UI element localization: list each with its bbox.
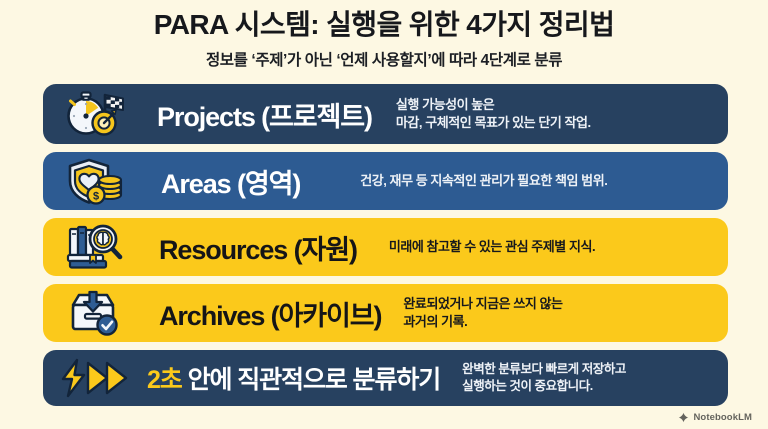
row-resources[interactable]: Resources (자원) 미래에 참고할 수 있는 관심 주제별 지식. [43,218,728,276]
row-projects[interactable]: Projects (프로젝트) 실행 가능성이 높은 마감, 구체적인 목표가 … [43,84,728,144]
infographic-poster: PARA 시스템: 실행을 위한 4가지 정리법 정보를 ‘주제’가 아닌 ‘언… [0,0,768,429]
watermark: NotebookLM [678,412,752,423]
row-label-resources: Resources (자원) [159,228,357,267]
row-archives[interactable]: Archives (아카이브) 완료되었거나 지금은 쓰지 않는 과거의 기록. [43,284,728,342]
row-description-archives: 완료되었거나 지금은 쓰지 않는 과거의 기록. [403,295,714,330]
row-description-resources: 미래에 참고할 수 있는 관심 주제별 지식. [389,238,714,256]
books-magnifier-brain-icon [57,221,133,273]
shield-heart-coins-icon: $ [57,155,133,207]
stopwatch-flag-icon [57,88,133,140]
row-label-archives: Archives (아카이브) [159,294,381,333]
notebooklm-logo-icon [678,412,689,423]
row-description-areas: 건강, 재무 등 지속적인 관리가 필요한 책임 범위. [360,172,714,190]
page-subtitle: 정보를 ‘주제’가 아닌 ‘언제 사용할지’에 따라 4단계로 분류 [0,48,768,70]
row-label-areas: Areas (영역) [161,162,300,201]
row-label-tip: 2초 안에 직관적으로 분류하기 [147,360,440,396]
row-areas[interactable]: $ Areas (영역) 건강, 재무 등 지속적인 관리가 필요한 책임 범위… [43,152,728,210]
row-label-projects: Projects (프로젝트) [157,95,372,134]
archive-box-check-icon [57,287,133,339]
row-tip[interactable]: 2초 안에 직관적으로 분류하기 완벽한 분류보다 빠르게 저장하고 실행하는 … [43,350,728,406]
row-description-tip: 완벽한 분류보다 빠르게 저장하고 실행하는 것이 중요합니다. [462,361,714,395]
tip-label-accent: 2초 [147,366,182,394]
page-title: PARA 시스템: 실행을 위한 4가지 정리법 [0,9,768,41]
poster-header: PARA 시스템: 실행을 위한 4가지 정리법 정보를 ‘주제’가 아닌 ‘언… [0,0,768,70]
svg-text:$: $ [93,190,99,202]
para-rows: Projects (프로젝트) 실행 가능성이 높은 마감, 구체적인 목표가 … [43,84,728,414]
watermark-label: NotebookLM [693,412,752,423]
bolt-fastforward-icon [57,352,133,404]
tip-label-rest: 안에 직관적으로 분류하기 [182,366,440,394]
row-description-projects: 실행 가능성이 높은 마감, 구체적인 목표가 있는 단기 작업. [396,96,714,131]
